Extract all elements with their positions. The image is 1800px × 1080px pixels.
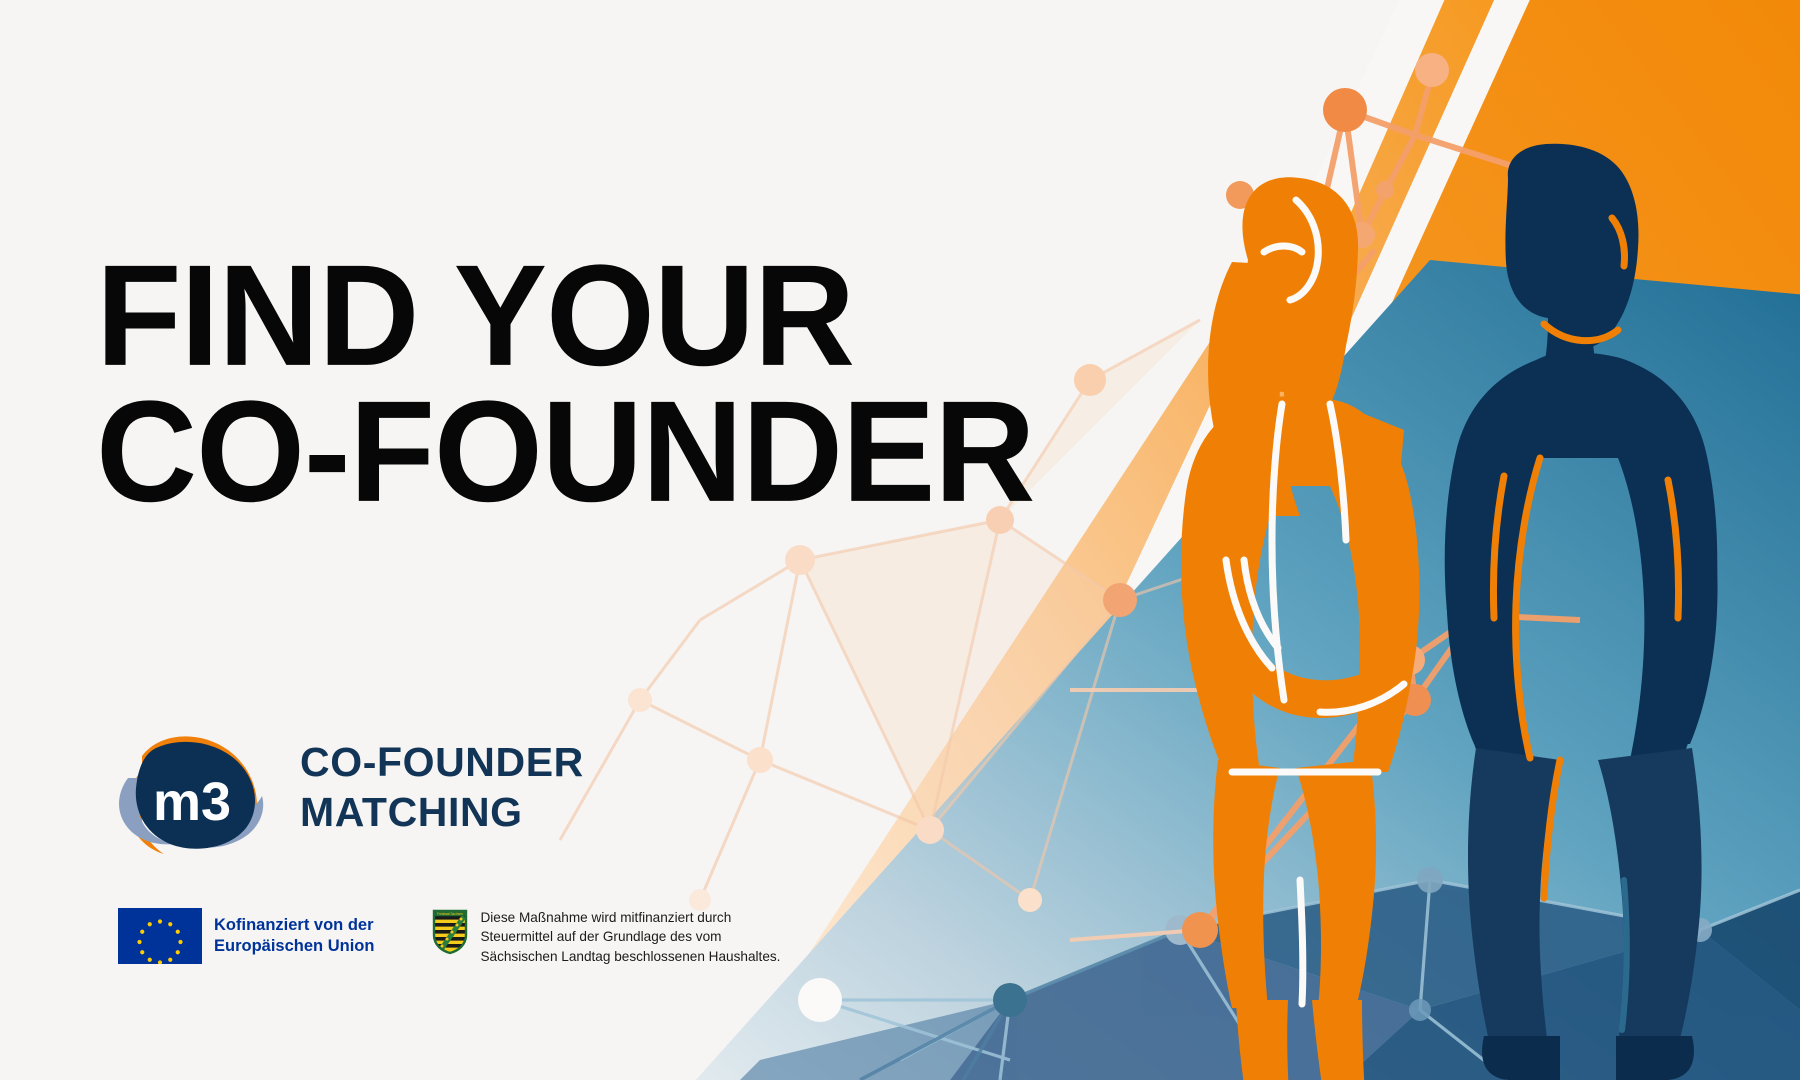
svg-text:m3: m3: [153, 772, 231, 832]
promo-banner: FIND YOUR CO-FOUNDER m3 CO-FOUNDER MATCH…: [0, 0, 1800, 1080]
saxony-motto: Freistaat Sachsen: [438, 912, 464, 916]
saxony-funding-item: Freistaat Sachsen Diese Maßnahme wird mi…: [432, 908, 780, 966]
saxony-coat-of-arms-icon: Freistaat Sachsen: [432, 909, 468, 955]
eu-funding-line-2: Europäischen Union: [214, 936, 374, 957]
headline: FIND YOUR CO-FOUNDER: [96, 250, 926, 522]
logo-wordmark-line-2: MATCHING: [300, 787, 584, 837]
saxony-funding-line-2: Steuermittel auf der Grundlage des vom: [480, 927, 780, 946]
funding-logos: Kofinanziert von der Europäischen Union: [118, 908, 780, 966]
eu-funding-text: Kofinanziert von der Europäischen Union: [214, 915, 374, 958]
saxony-funding-line-1: Diese Maßnahme wird mitfinanziert durch: [480, 908, 780, 927]
logo-wordmark: CO-FOUNDER MATCHING: [300, 737, 584, 837]
logo-lockup: m3 CO-FOUNDER MATCHING: [108, 712, 584, 862]
eu-funding-line-1: Kofinanziert von der: [214, 915, 374, 936]
logo-wordmark-line-1: CO-FOUNDER: [300, 737, 584, 787]
headline-line-1: FIND YOUR: [96, 250, 1034, 382]
eu-flag-icon: [118, 908, 202, 964]
saxony-funding-text: Diese Maßnahme wird mitfinanziert durch …: [480, 908, 780, 966]
eu-funding-item: Kofinanziert von der Europäischen Union: [118, 908, 374, 964]
m3-logo-icon: m3: [108, 712, 272, 862]
headline-line-2: CO-FOUNDER: [96, 386, 1034, 518]
saxony-funding-line-3: Sächsischen Landtag beschlossenen Hausha…: [480, 947, 780, 966]
